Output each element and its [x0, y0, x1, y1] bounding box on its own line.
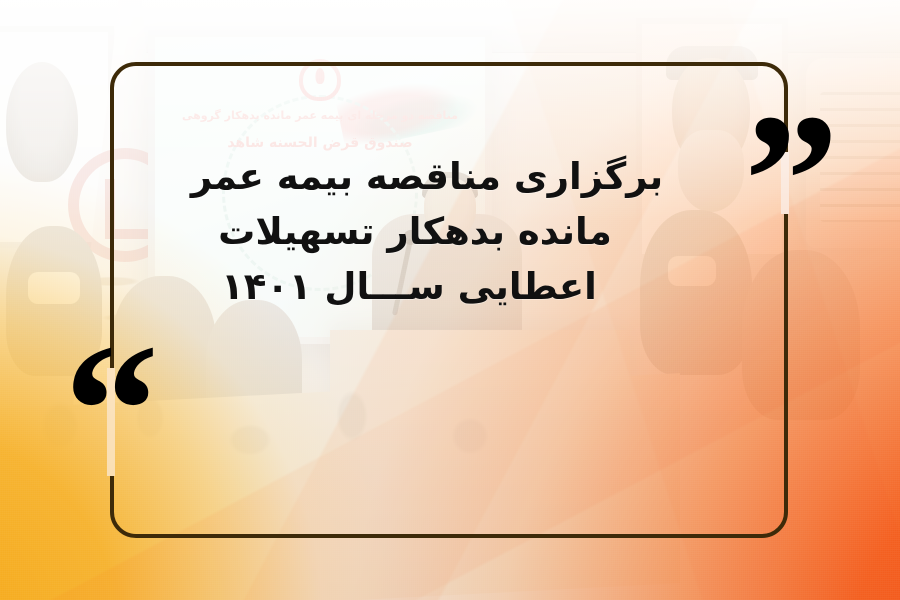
- opening-quote-icon: “: [64, 316, 159, 506]
- closing-quote-icon: ”: [744, 86, 839, 276]
- headline-line-1: برگزاری مناقصه بیمه عمر: [130, 150, 730, 205]
- banner-canvas: مناقصه دو مرحله ای بیمه عمر مانده بدهکار…: [0, 0, 900, 600]
- headline-line-3: اعطایی ســـال ۱۴۰۱: [130, 260, 730, 315]
- headline: برگزاری مناقصه بیمه عمر مانده بدهکار تسه…: [130, 150, 730, 314]
- headline-line-2: مانده بدهکار تسهیلات: [130, 205, 730, 260]
